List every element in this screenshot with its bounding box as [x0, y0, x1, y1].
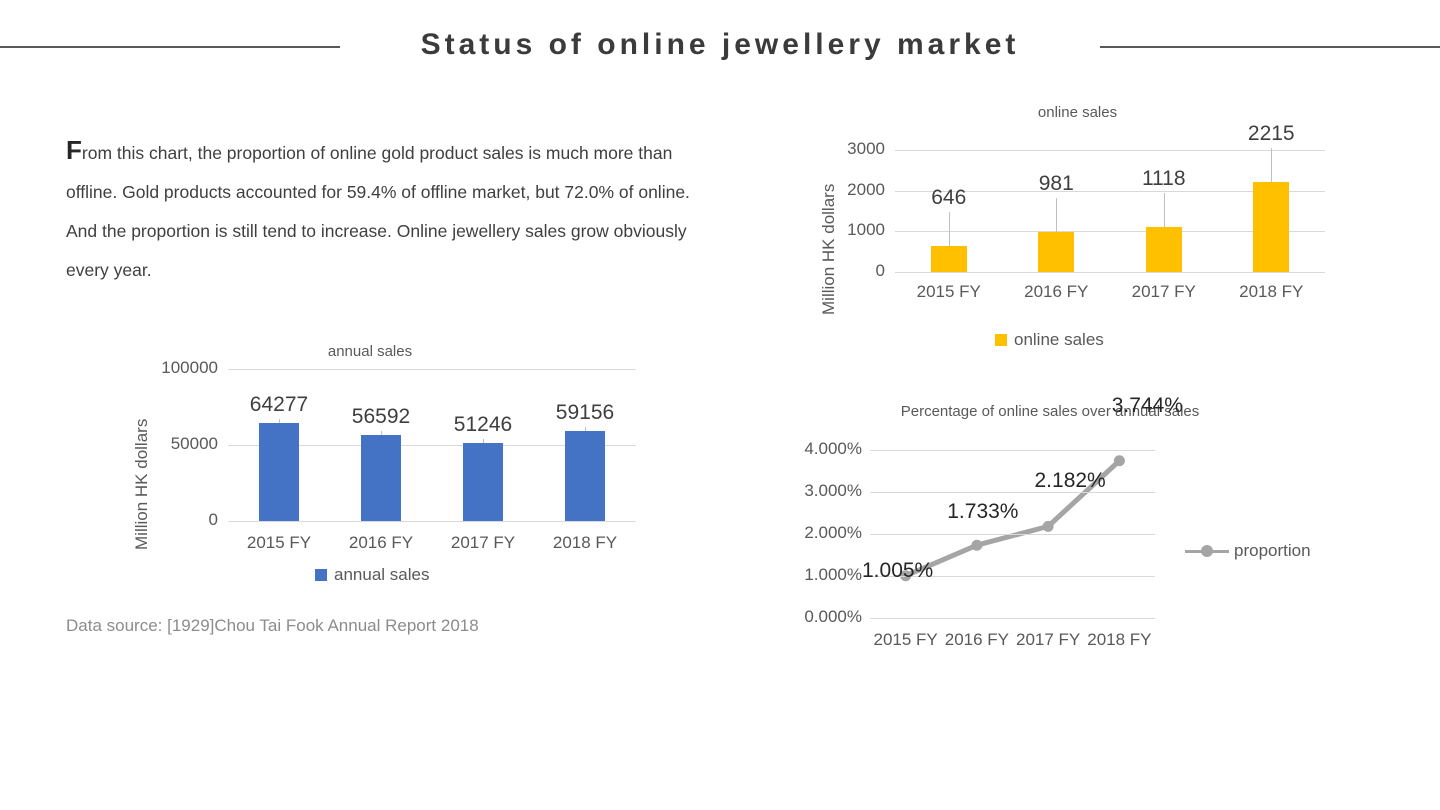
point-value-label: 3.744%: [1087, 394, 1207, 418]
y-axis-tick: 1000: [795, 220, 885, 240]
bar-leader-line: [1271, 148, 1272, 182]
data-source-caption: Data source: [1929]Chou Tai Fook Annual …: [66, 616, 479, 636]
gridline: [870, 534, 1155, 535]
bar-value-label: 646: [889, 186, 1009, 210]
bar-leader-line: [949, 212, 950, 246]
legend-marker-dot: [1201, 545, 1213, 557]
bar-value-label: 59156: [525, 401, 645, 425]
x-axis-tick: 2017 FY: [1104, 282, 1224, 302]
x-axis-tick: 2018 FY: [1211, 282, 1331, 302]
gridline: [228, 521, 636, 522]
y-axis-tick: 0: [128, 510, 218, 530]
x-axis-tick: 2015 FY: [889, 282, 1009, 302]
x-axis-tick: 2018 FY: [525, 533, 645, 553]
data-point-marker: [971, 540, 982, 551]
y-axis-tick: 50000: [128, 434, 218, 454]
x-axis-tick: 2016 FY: [996, 282, 1116, 302]
point-value-label: 1.733%: [923, 500, 1043, 524]
gridline: [228, 369, 636, 370]
bar-2015-fy: [259, 423, 299, 521]
y-axis-tick: 2000: [795, 180, 885, 200]
bar-2018-fy: [1253, 182, 1289, 272]
bar-leader-line: [279, 419, 280, 423]
bar-value-label: 1118: [1104, 167, 1224, 191]
legend-line-icon: [1185, 545, 1229, 557]
bar-leader-line: [1056, 198, 1057, 232]
legend-swatch-icon: [315, 569, 327, 581]
bar-2016-fy: [1038, 232, 1074, 272]
y-axis-title-online-sales: Million HK dollars: [819, 184, 839, 315]
point-value-label: 2.182%: [1010, 469, 1130, 493]
chart-online-sales: online sales Million HK dollars 01000200…: [805, 100, 1350, 350]
bar-2015-fy: [931, 246, 967, 272]
x-axis-tick: 2018 FY: [1074, 630, 1164, 650]
plot-area-annual-sales: 050000100000642772015 FY565922016 FY5124…: [228, 369, 636, 521]
chart-legend: proportion: [1185, 541, 1311, 561]
data-point-marker: [1043, 521, 1054, 532]
bar-value-label: 2215: [1211, 122, 1331, 146]
intro-dropcap: F: [66, 135, 82, 165]
bar-leader-line: [1164, 193, 1165, 227]
point-value-label: 1.005%: [838, 559, 958, 583]
intro-paragraph-text: rom this chart, the proportion of online…: [66, 143, 690, 280]
gridline: [895, 272, 1325, 273]
bar-2018-fy: [565, 431, 605, 521]
chart-percentage: Percentage of online sales over annual s…: [775, 395, 1350, 660]
bar-2016-fy: [361, 435, 401, 521]
chart-legend: online sales: [995, 330, 1104, 350]
y-axis-tick: 3000: [795, 139, 885, 159]
bar-leader-line: [381, 431, 382, 435]
y-axis-tick: 2.000%: [770, 523, 862, 543]
bar-leader-line: [585, 427, 586, 431]
data-point-marker: [1114, 455, 1125, 466]
gridline: [870, 450, 1155, 451]
plot-area-online-sales: 01000200030006462015 FY9812016 FY1118201…: [895, 150, 1325, 272]
gridline: [870, 618, 1155, 619]
chart-title-annual-sales: annual sales: [210, 343, 530, 360]
bar-2017-fy: [1146, 227, 1182, 272]
y-axis-tick: 4.000%: [770, 439, 862, 459]
chart-annual-sales: annual sales Million HK dollars 05000010…: [110, 335, 670, 590]
legend-label: proportion: [1234, 541, 1311, 561]
y-axis-tick: 100000: [128, 358, 218, 378]
legend-label: annual sales: [334, 565, 429, 585]
y-axis-tick: 3.000%: [770, 481, 862, 501]
bar-2017-fy: [463, 443, 503, 521]
legend-label: online sales: [1014, 330, 1104, 350]
chart-title-percentage: Percentage of online sales over annual s…: [815, 403, 1285, 420]
gridline: [895, 150, 1325, 151]
plot-area-percentage: 0.000%1.000%2.000%3.000%4.000%1.005%2015…: [870, 450, 1155, 618]
legend-swatch-icon: [995, 334, 1007, 346]
intro-paragraph: From this chart, the proportion of onlin…: [66, 134, 711, 290]
chart-title-online-sales: online sales: [805, 104, 1350, 121]
bar-leader-line: [483, 439, 484, 443]
bar-value-label: 981: [996, 172, 1116, 196]
page-title: Status of online jewellery market: [0, 28, 1440, 62]
y-axis-tick: 0: [795, 261, 885, 281]
chart-legend: annual sales: [315, 565, 429, 585]
y-axis-tick: 0.000%: [770, 607, 862, 627]
